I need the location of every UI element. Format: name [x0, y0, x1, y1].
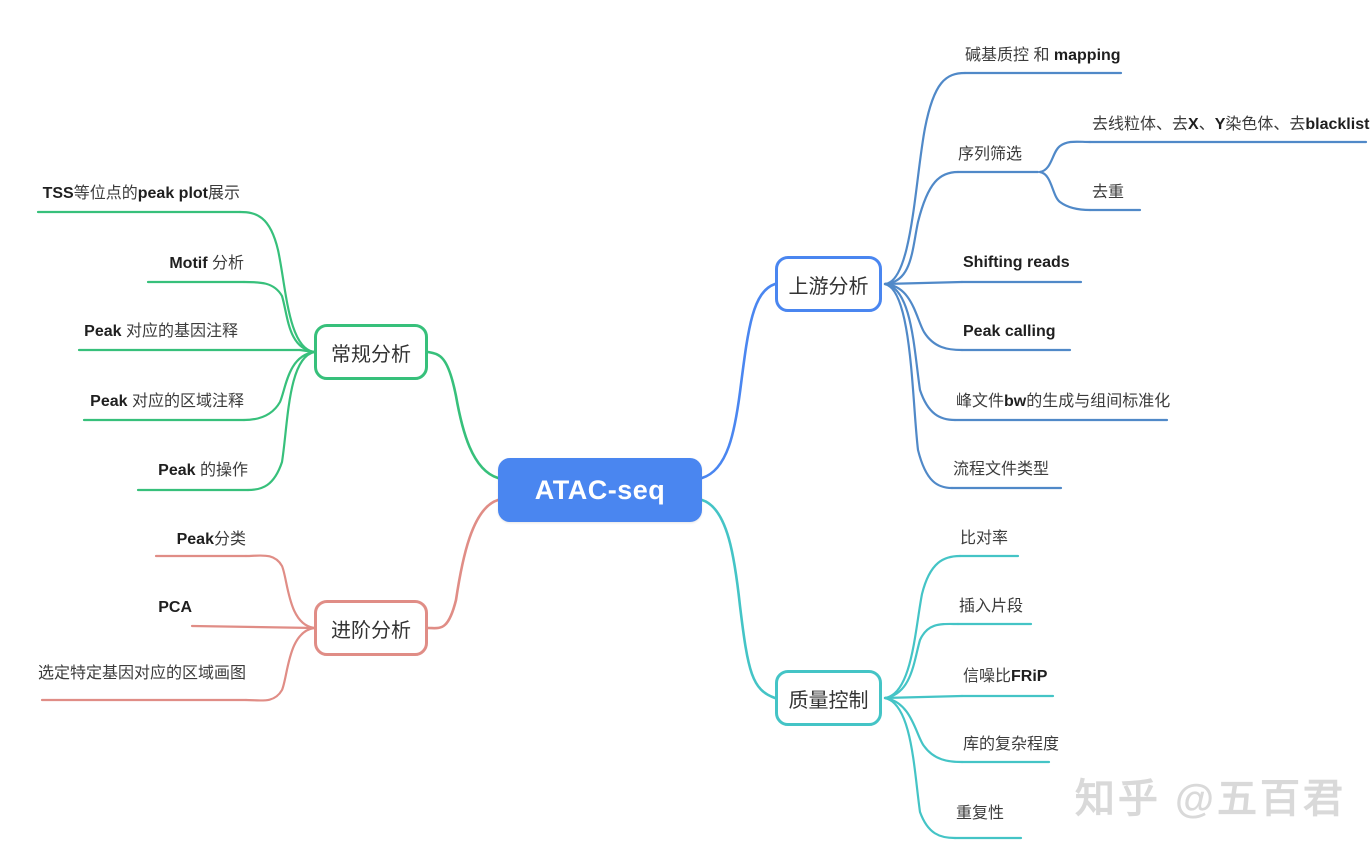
leaf-advanced-1[interactable]: PCA [158, 600, 192, 616]
leaf-advanced-0[interactable]: Peak分类 [177, 532, 246, 548]
leaf-upstream-sub-0[interactable]: 去线粒体、去X、Y染色体、去blacklist [1092, 117, 1369, 133]
leaf-quality-0[interactable]: 比对率 [960, 531, 1008, 547]
leaf-quality-2[interactable]: 信噪比FRiP [963, 669, 1047, 685]
leaf-upstream-0[interactable]: 碱基质控 和 mapping [965, 48, 1121, 64]
leaf-upstream-3[interactable]: Peak calling [963, 324, 1056, 340]
watermark-text: 知乎 @五百君 [1075, 766, 1346, 824]
branch-node-quality-control[interactable]: 质量控制 [775, 670, 882, 726]
branch-node-upstream[interactable]: 上游分析 [775, 256, 882, 312]
leaf-routine-4[interactable]: Peak 的操作 [158, 463, 248, 479]
mindmap-canvas: ATAC-seq 上游分析 质量控制 常规分析 进阶分析 碱基质控 和 mapp… [0, 0, 1370, 852]
leaf-advanced-2[interactable]: 选定特定基因对应的区域画图 [38, 666, 246, 682]
root-node[interactable]: ATAC-seq [498, 458, 702, 522]
branch-node-routine-analysis[interactable]: 常规分析 [314, 324, 428, 380]
leaf-quality-4[interactable]: 重复性 [956, 806, 1004, 822]
leaf-quality-1[interactable]: 插入片段 [959, 599, 1023, 615]
leaf-upstream-2[interactable]: Shifting reads [963, 255, 1070, 271]
leaf-quality-3[interactable]: 库的复杂程度 [963, 737, 1059, 753]
leaf-routine-0[interactable]: TSS等位点的peak plot展示 [43, 186, 240, 202]
leaf-upstream-1[interactable]: 序列筛选 [958, 147, 1022, 163]
branch-node-advanced-analysis[interactable]: 进阶分析 [314, 600, 428, 656]
leaf-upstream-5[interactable]: 流程文件类型 [953, 462, 1049, 478]
leaf-routine-2[interactable]: Peak 对应的基因注释 [84, 324, 238, 340]
leaf-routine-3[interactable]: Peak 对应的区域注释 [90, 394, 244, 410]
leaf-upstream-sub-1[interactable]: 去重 [1092, 185, 1124, 201]
leaf-upstream-4[interactable]: 峰文件bw的生成与组间标准化 [956, 394, 1170, 410]
leaf-routine-1[interactable]: Motif 分析 [169, 256, 244, 272]
